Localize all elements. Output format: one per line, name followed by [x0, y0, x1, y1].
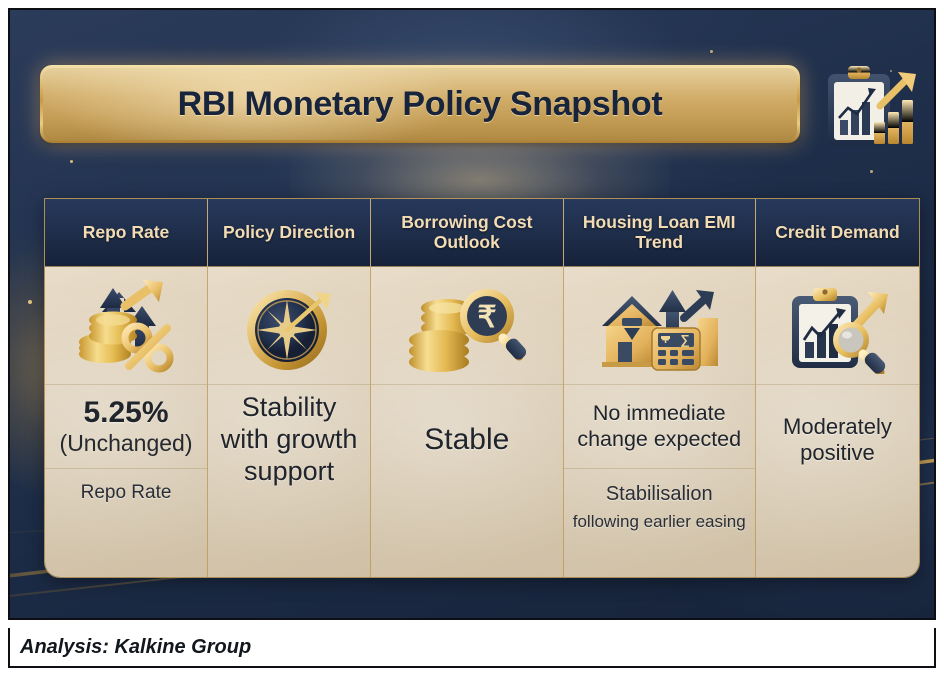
- poster-background: RBI Monetary Policy Snapshot: [8, 8, 936, 620]
- title-banner: RBI Monetary Policy Snapshot: [40, 65, 800, 143]
- cell-secondary-housing-loan-emi: Stabilisalion following earlier easing: [564, 469, 755, 577]
- column-header-text: Policy Direction: [223, 223, 355, 243]
- clipboard-bar-chart-growth-icon: [806, 58, 930, 154]
- column-header-credit-demand: Credit Demand: [756, 199, 919, 267]
- cell-icon-policy-direction: [208, 267, 370, 385]
- title-banner-inner: RBI Monetary Policy Snapshot: [43, 68, 797, 140]
- column-header-text: Housing Loan EMI Trend: [570, 213, 749, 252]
- borrowing-cost-value: Stable: [424, 422, 509, 457]
- cell-secondary-repo-rate: Repo Rate: [45, 469, 207, 577]
- repo-rate-label: Repo Rate: [81, 481, 172, 506]
- column-header-policy-direction: Policy Direction: [208, 199, 370, 267]
- gold-coins-percent-up-arrow-icon: [67, 278, 185, 374]
- column-header-repo-rate: Repo Rate: [45, 199, 207, 267]
- cell-value-repo-rate: 5.25% (Unchanged): [45, 385, 207, 469]
- analysis-credit: Analysis: Kalkine Group: [20, 636, 251, 659]
- svg-text:+: +: [662, 332, 670, 347]
- housing-emi-value: No immediate change expected: [572, 401, 747, 452]
- clipboard-chart-magnifier-arrow-icon: [778, 278, 896, 374]
- repo-rate-value: 5.25%: [60, 395, 193, 430]
- house-calculator-arrows-icon: + ∑: [594, 278, 724, 374]
- cell-value-credit-demand: Moderately positive: [756, 385, 919, 495]
- column-header-housing-loan-emi: Housing Loan EMI Trend: [564, 199, 755, 267]
- cell-icon-repo-rate: [45, 267, 207, 385]
- table-column-borrowing-cost: Borrowing Cost Outlook: [371, 199, 563, 577]
- cell-value-housing-loan-emi: No immediate change expected: [564, 385, 755, 469]
- column-header-borrowing-cost: Borrowing Cost Outlook: [371, 199, 562, 267]
- table-column-policy-direction: Policy Direction: [208, 199, 371, 577]
- cell-icon-credit-demand: [756, 267, 919, 385]
- table-column-housing-loan-emi: Housing Loan EMI Trend: [564, 199, 756, 577]
- column-header-text: Borrowing Cost Outlook: [377, 213, 556, 252]
- gold-compass-icon: [237, 278, 341, 374]
- column-header-text: Credit Demand: [775, 223, 899, 243]
- policy-direction-value: Stability with growth support: [216, 392, 362, 488]
- housing-emi-note-lead: Stabilisalion: [573, 481, 746, 507]
- svg-text:∑: ∑: [681, 332, 690, 347]
- table-grid: Repo Rate: [45, 199, 919, 577]
- gold-coins-magnifier-rupee-icon: ₹: [403, 278, 531, 374]
- repo-rate-note: (Unchanged): [60, 430, 193, 458]
- table-column-credit-demand: Credit Demand: [756, 199, 919, 577]
- svg-text:₹: ₹: [477, 301, 496, 334]
- cell-value-borrowing-cost: Stable: [371, 385, 562, 495]
- cell-value-policy-direction: Stability with growth support: [208, 385, 370, 495]
- page-title: RBI Monetary Policy Snapshot: [178, 85, 663, 124]
- credit-demand-value: Moderately positive: [764, 414, 911, 466]
- caption-bar: Analysis: Kalkine Group: [8, 628, 936, 668]
- cell-icon-borrowing-cost: ₹: [371, 267, 562, 385]
- policy-snapshot-table: Repo Rate: [44, 198, 920, 578]
- infographic-screenshot: RBI Monetary Policy Snapshot: [0, 0, 944, 675]
- column-header-text: Repo Rate: [83, 223, 170, 243]
- housing-emi-note: following earlier easing: [573, 512, 746, 531]
- table-column-repo-rate: Repo Rate: [45, 199, 208, 577]
- cell-icon-housing-loan-emi: + ∑: [564, 267, 755, 385]
